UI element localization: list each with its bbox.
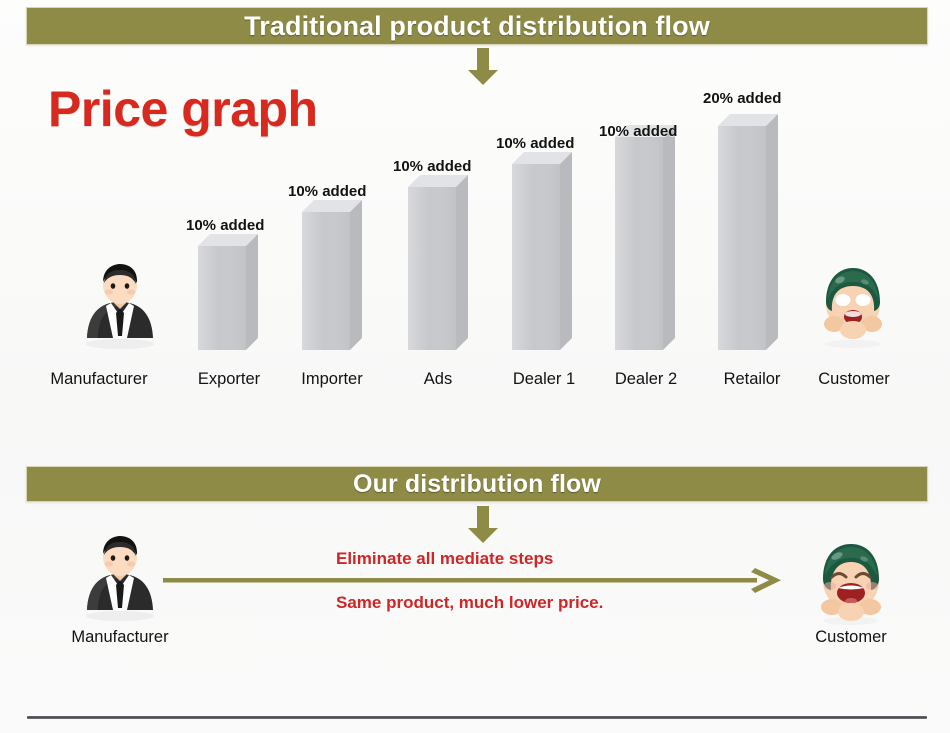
bar-retailor — [718, 112, 790, 357]
happy-customer-avatar-icon — [812, 258, 894, 355]
bar-note-importer: 10% added — [288, 183, 366, 200]
axis-label-exporter: Exporter — [198, 370, 260, 389]
flow-text-line-2: Same product, much lower price. — [336, 593, 603, 613]
bottom-divider — [27, 716, 927, 719]
bar-dealer-2 — [615, 123, 687, 357]
bottom-label-manufacturer: Manufacturer — [71, 628, 168, 647]
axis-label-ads: Ads — [424, 370, 452, 389]
axis-label-dealer-1: Dealer 1 — [513, 370, 575, 389]
infographic-canvas: Traditional product distribution flow Pr… — [0, 0, 950, 733]
bar-note-exporter: 10% added — [186, 217, 264, 234]
axis-label-dealer-2: Dealer 2 — [615, 370, 677, 389]
right-arrow-icon — [163, 566, 783, 596]
our-flow-title: Our distribution flow — [353, 470, 601, 499]
our-flow-header: Our distribution flow — [26, 466, 928, 502]
bar-dealer-1 — [512, 150, 584, 357]
businessman-avatar-icon-2 — [78, 534, 162, 627]
bar-note-dealer-1: 10% added — [496, 135, 574, 152]
axis-label-importer: Importer — [301, 370, 362, 389]
price-bar-chart: 10% added 10% added 10% added — [0, 0, 950, 400]
bar-importer — [302, 198, 374, 357]
bar-exporter — [198, 232, 270, 357]
bar-ads — [408, 173, 480, 357]
businessman-avatar-icon — [78, 262, 162, 355]
bar-note-dealer-2: 10% added — [599, 123, 677, 140]
axis-label-manufacturer: Manufacturer — [50, 370, 147, 389]
down-arrow-icon-2 — [466, 506, 500, 544]
axis-label-customer: Customer — [818, 370, 890, 389]
happy-customer-avatar-icon-2 — [808, 536, 894, 631]
bottom-label-customer: Customer — [815, 628, 887, 647]
bar-note-ads: 10% added — [393, 158, 471, 175]
bar-note-retailor: 20% added — [703, 90, 781, 107]
axis-label-retailor: Retailor — [724, 370, 781, 389]
